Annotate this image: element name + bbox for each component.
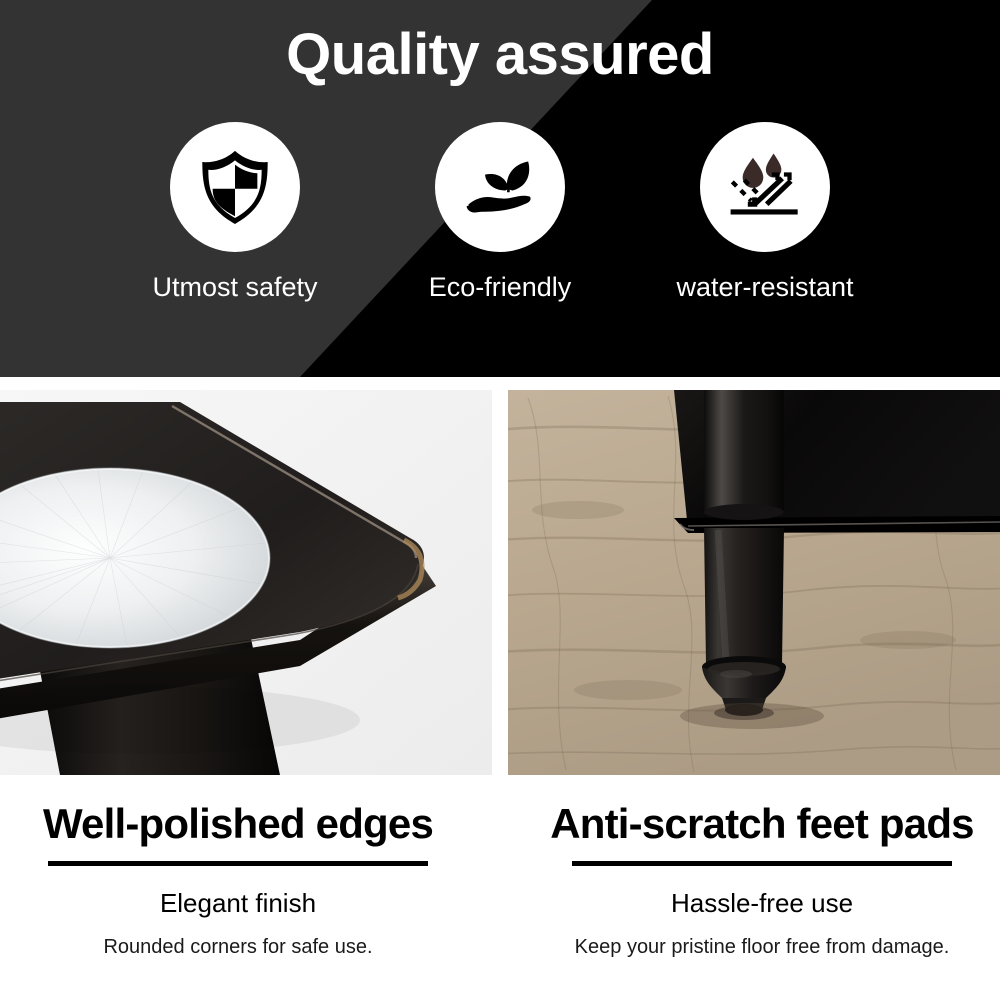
water-repellent-icon [700,122,830,252]
quality-assured-banner: Quality assured Utmost sa [0,0,1000,377]
caption-description: Keep your pristine floor free from damag… [524,935,1000,959]
caption-well-polished-edges: Well-polished edges Elegant finish Round… [0,800,476,959]
feature-water-resistant: water-resistant [650,122,880,303]
caption-heading: Anti-scratch feet pads [524,800,1000,848]
caption-anti-scratch-feet-pads: Anti-scratch feet pads Hassle-free use K… [524,800,1000,959]
caption-row: Well-polished edges Elegant finish Round… [0,800,1000,1000]
table-leg-foot-pad-photo [508,390,1000,775]
caption-divider [572,861,952,866]
shield-icon [170,122,300,252]
page-title: Quality assured [0,24,1000,86]
feature-label: Eco-friendly [429,271,572,303]
product-feature-panel: Quality assured Utmost sa [0,0,1000,1000]
feature-utmost-safety: Utmost safety [120,122,350,303]
feature-label: water-resistant [676,271,853,303]
feature-label: Utmost safety [152,271,317,303]
caption-description: Rounded corners for safe use. [0,935,476,959]
hand-holding-plant-icon [435,122,565,252]
caption-subheading: Hassle-free use [524,888,1000,918]
product-photo-row [0,390,1000,775]
feature-badge-row: Utmost safety [120,122,880,303]
polished-glass-corner-photo [0,390,492,775]
caption-subheading: Elegant finish [0,888,476,918]
caption-divider [48,861,428,866]
caption-heading: Well-polished edges [0,800,476,848]
feature-eco-friendly: Eco-friendly [385,122,615,303]
